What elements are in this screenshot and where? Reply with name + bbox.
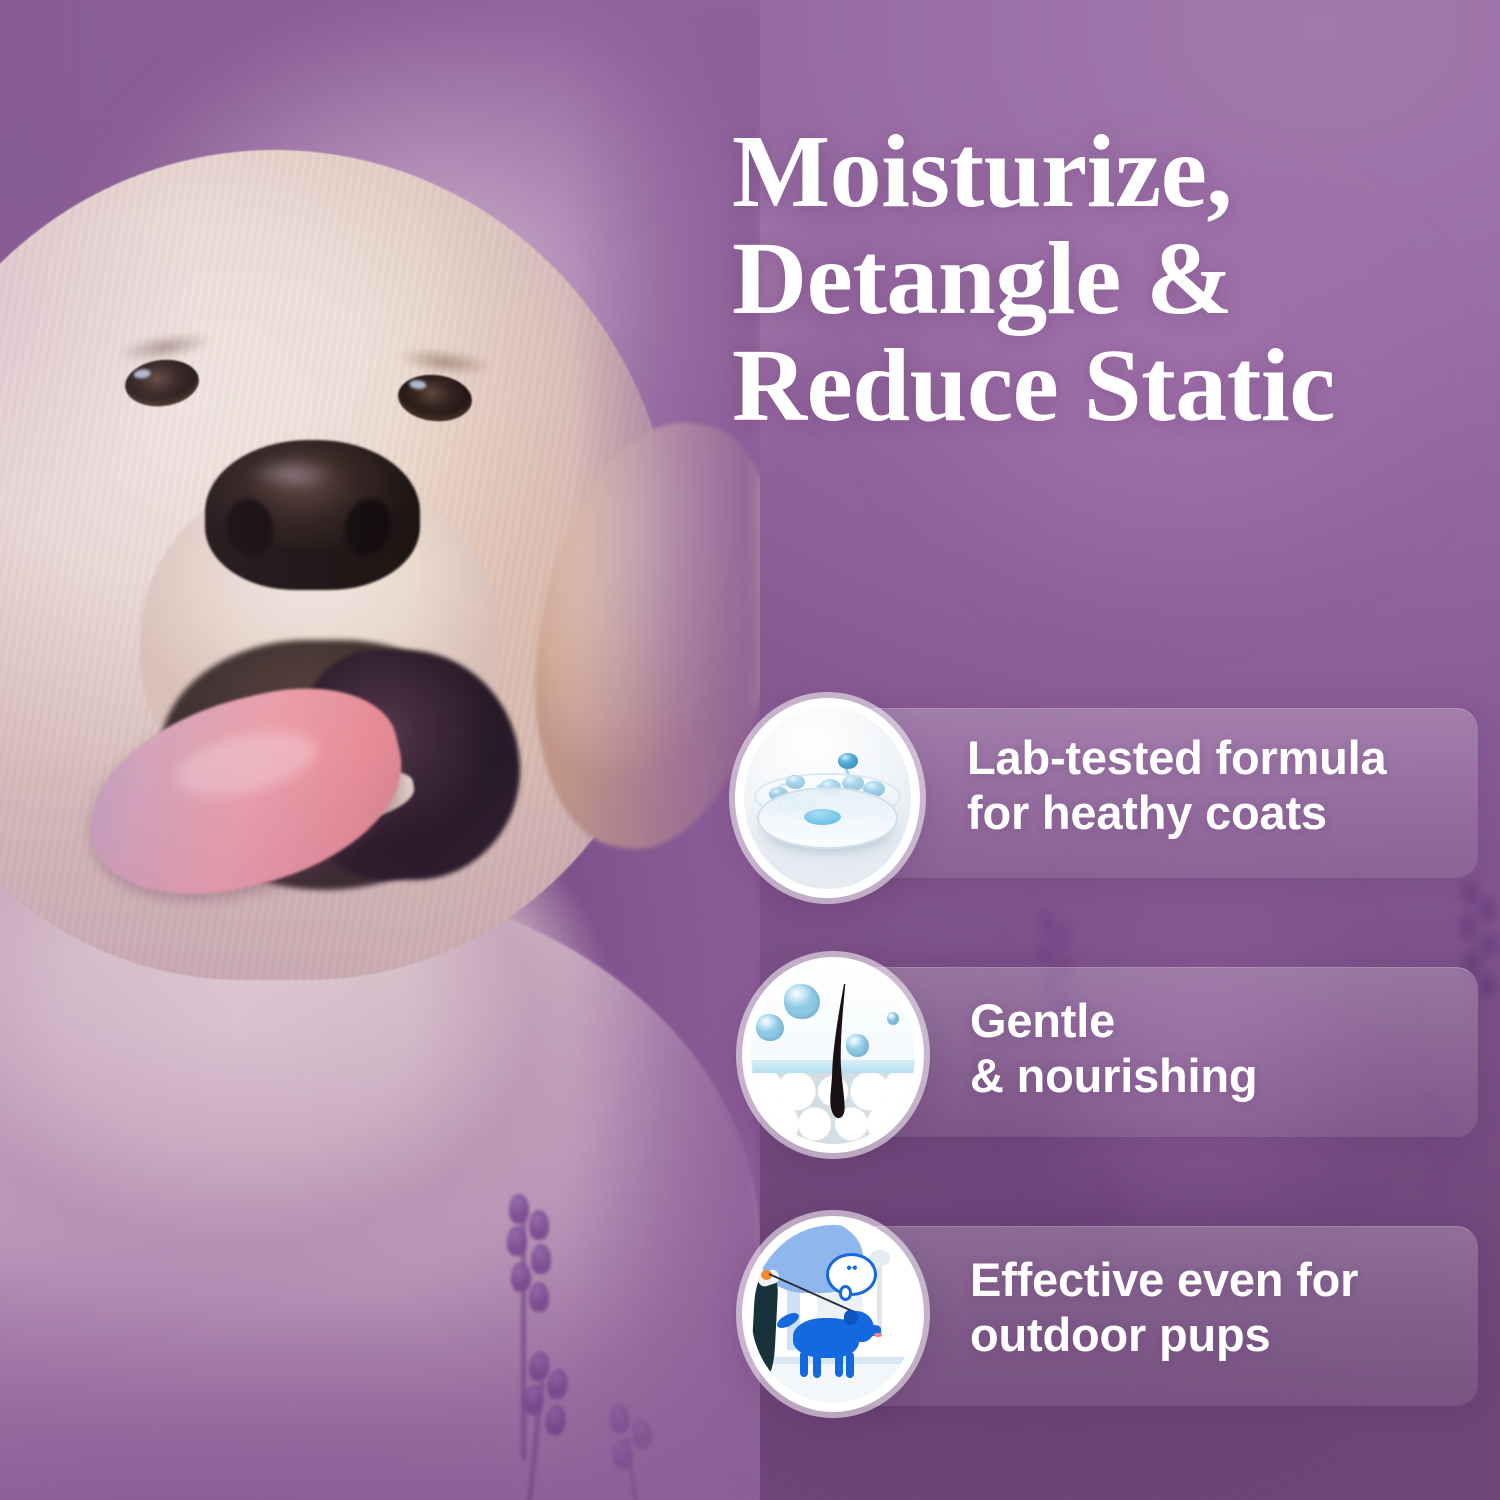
feature-row-gentle: Gentle & nourishing <box>742 955 1452 1175</box>
headline-line-2: Detangle & <box>732 225 1492 332</box>
hair-strand-icon <box>823 984 849 1126</box>
feature-label: Lab-tested formula for heathy coats <box>967 730 1386 841</box>
feature-label: Gentle & nourishing <box>970 993 1257 1104</box>
feature-label: Effective even for outdoor pups <box>970 1252 1358 1363</box>
feature-row-outdoor-pups: Effective even for outdoor pups <box>742 1216 1452 1446</box>
heart-icon <box>848 1265 855 1270</box>
petri-dish-molecule-icon <box>735 698 920 898</box>
headline-line-3: Reduce Static <box>732 332 1492 439</box>
dog-photo <box>0 0 760 1500</box>
page-title: Moisturize, Detangle & Reduce Static <box>732 118 1492 439</box>
product-feature-banner: Moisturize, Detangle & Reduce Static <box>0 0 1500 1500</box>
dog-nose-highlight <box>232 452 352 496</box>
headline-line-1: Moisturize, <box>732 118 1492 225</box>
hair-follicle-skin-icon <box>742 957 924 1153</box>
dog-walking-outdoors-icon <box>742 1216 924 1412</box>
blue-dog-illustration <box>785 1307 877 1378</box>
feature-row-lab-tested: Lab-tested formula for heathy coats <box>735 690 1445 910</box>
